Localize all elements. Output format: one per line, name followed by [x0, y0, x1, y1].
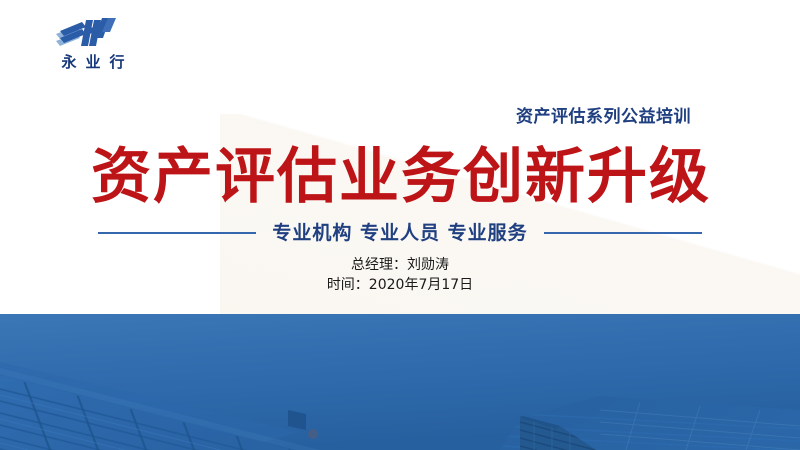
presenter-info: 总经理：刘勋涛 时间：2020年7月17日	[0, 255, 800, 295]
company-logo: 永业行	[38, 16, 148, 78]
presentation-date-line: 时间：2020年7月17日	[0, 275, 800, 295]
glass-office-building-photo	[0, 314, 800, 450]
subtitle-row: 专业机构 专业人员 专业服务	[98, 220, 702, 246]
logo-wordmark: 永业行	[38, 52, 148, 72]
presentation-title-slide: 永业行 资产评估系列公益培训 资产评估业务创新升级 专业机构 专业人员 专业服务…	[0, 0, 800, 450]
yonghye-monogram-icon	[50, 16, 120, 50]
rule-left	[98, 232, 256, 234]
page-title: 资产评估业务创新升级	[0, 142, 800, 212]
series-eyebrow-label: 资产评估系列公益培训	[0, 106, 691, 128]
presenter-name-line: 总经理：刘勋涛	[0, 255, 800, 275]
subtitle-label: 专业机构 专业人员 专业服务	[256, 221, 543, 245]
rule-right	[544, 232, 702, 234]
